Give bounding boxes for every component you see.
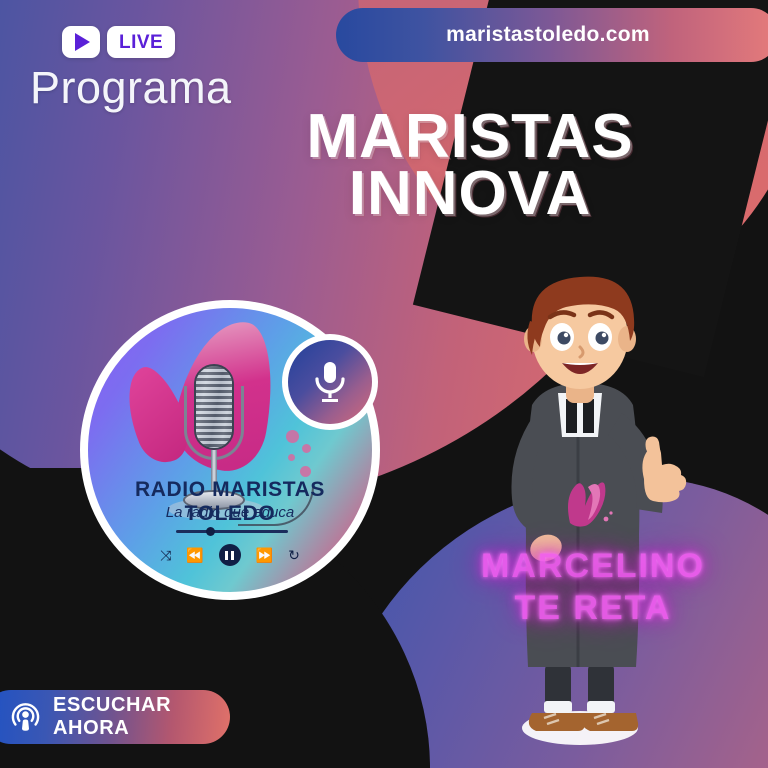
- website-label: maristastoledo.com: [446, 23, 668, 47]
- title-line-1: MARISTAS: [270, 108, 670, 165]
- microphone-glyph: [310, 360, 350, 404]
- page-title: MARISTAS INNOVA: [270, 108, 670, 222]
- live-chip[interactable]: LIVE: [107, 26, 175, 58]
- pause-icon[interactable]: [219, 544, 241, 566]
- next-track-icon[interactable]: ⏩: [256, 547, 273, 564]
- neon-line-1: MARCELINO: [468, 547, 718, 586]
- website-pill[interactable]: maristastoledo.com: [336, 8, 768, 62]
- radio-logo[interactable]: RADIO MARISTAS TOLEDO La radio que educa…: [80, 300, 380, 600]
- logo-tagline: La radio que educa: [88, 504, 372, 521]
- previous-track-icon[interactable]: ⏪: [186, 547, 203, 564]
- promo-poster: LIVE Programa maristastoledo.com MARISTA…: [0, 0, 768, 768]
- mascot-illustration: [470, 265, 730, 765]
- logo-player-controls: ⤨ ⏪ ⏩ ↻: [88, 544, 372, 566]
- title-line-2: INNOVA: [270, 165, 670, 222]
- listen-now-label: ESCUCHAR AHORA: [53, 694, 230, 740]
- play-icon: [75, 33, 90, 51]
- neon-line-2: TE RETA: [468, 589, 718, 628]
- kicker-text: Programa: [30, 62, 232, 114]
- repeat-icon[interactable]: ↻: [288, 547, 300, 564]
- logo-progress-bar[interactable]: [176, 530, 288, 533]
- microphone-icon: [282, 334, 378, 430]
- live-badge[interactable]: LIVE: [62, 26, 175, 58]
- logo-microphone-yoke: [184, 386, 244, 460]
- shuffle-icon[interactable]: ⤨: [160, 547, 171, 564]
- play-button[interactable]: [62, 26, 100, 58]
- listen-now-button[interactable]: ESCUCHAR AHORA: [0, 690, 230, 744]
- logo-progress-knob[interactable]: [206, 527, 215, 536]
- podcast-icon: [10, 702, 41, 733]
- mascot-svg: [470, 265, 730, 765]
- live-label: LIVE: [119, 33, 163, 52]
